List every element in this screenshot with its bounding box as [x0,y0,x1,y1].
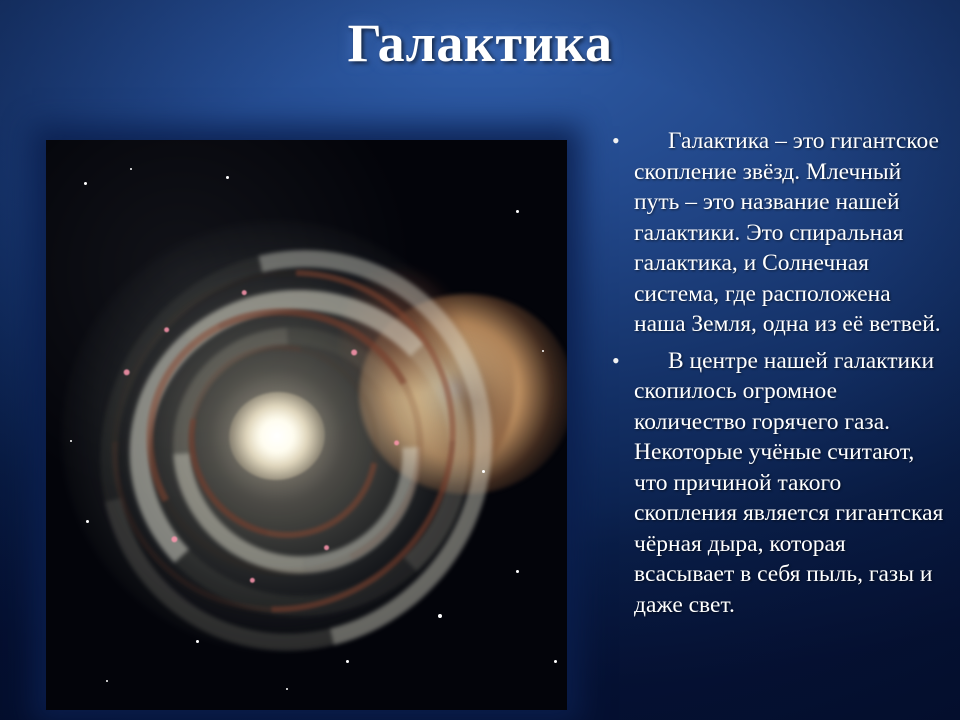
star-icon [516,570,519,573]
star-icon [542,350,544,352]
star-icon [130,168,132,170]
star-icon [106,680,108,682]
star-icon [84,182,87,185]
star-icon [226,176,229,179]
star-icon [482,470,485,473]
star-icon [70,440,72,442]
list-item: • В центре нашей галактики скопилось огр… [610,346,944,621]
bullet-text: В центре нашей галактики скопилось огром… [634,346,944,621]
bullet-text: Галактика – это гигантское скопление звё… [634,126,944,340]
list-item: • Галактика – это гигантское скопление з… [610,126,944,340]
slide-body-text: • Галактика – это гигантское скопление з… [610,126,944,626]
galaxy-image-canvas [46,140,567,710]
page-title: Галактика [0,10,960,76]
star-icon [86,520,89,523]
presentation-slide: Галактика [0,0,960,720]
star-icon [516,210,519,213]
spiral-galaxy-icon [46,194,519,680]
bullet-marker-icon: • [610,126,634,156]
spiral-galaxy-photo [46,140,567,710]
star-icon [286,688,288,690]
star-icon [346,660,349,663]
star-icon [438,614,442,618]
star-icon [196,640,199,643]
bullet-marker-icon: • [610,346,634,376]
star-icon [554,660,557,663]
